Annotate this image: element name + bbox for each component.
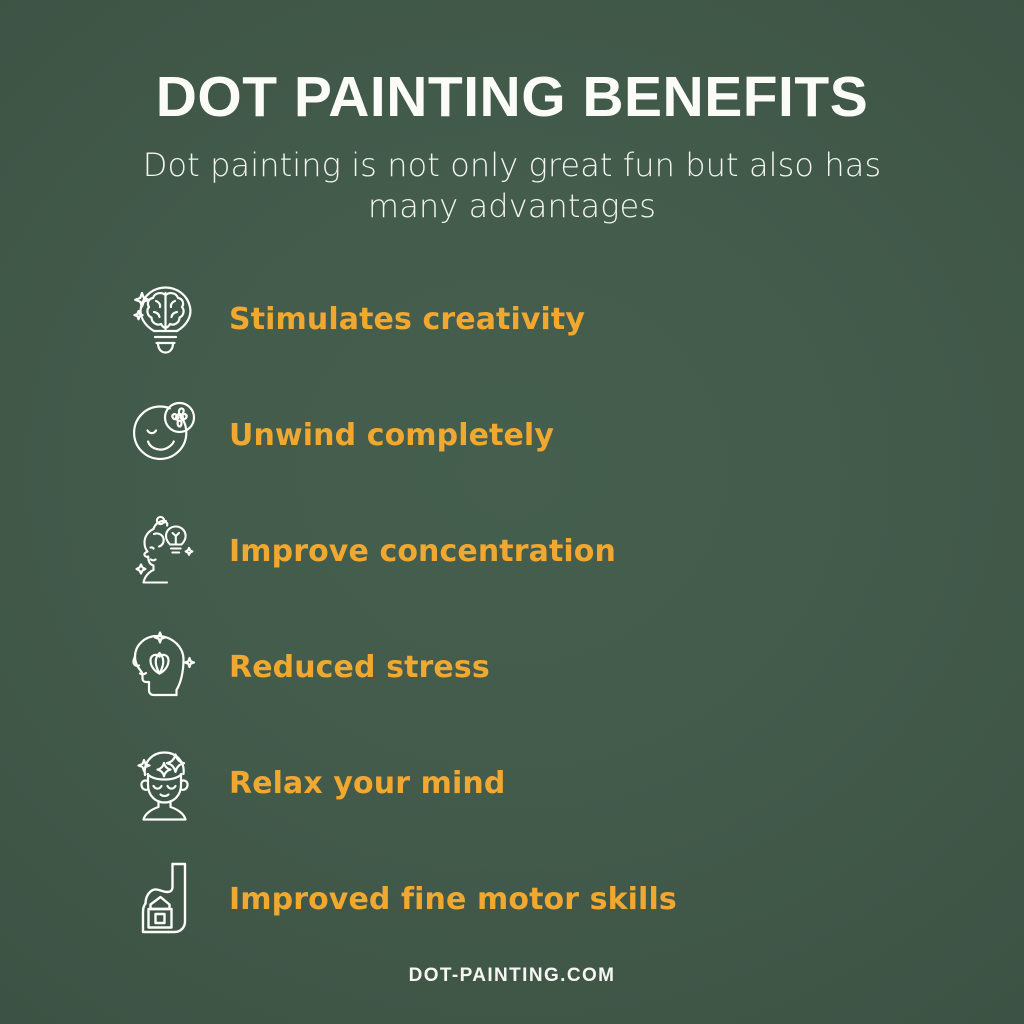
list-item: Improve concentration <box>129 506 929 596</box>
head-profile-lightbulb-icon <box>129 508 201 594</box>
brain-lightbulb-icon <box>129 276 201 362</box>
calm-face-stars-icon <box>129 740 201 826</box>
footer-website[interactable]: DOT-PAINTING.COM <box>0 965 1024 987</box>
head-profile-lotus-icon <box>129 624 201 710</box>
list-item: Reduced stress <box>129 622 929 712</box>
list-item: Unwind completely <box>129 390 929 480</box>
hand-holding-tool-icon <box>129 856 201 942</box>
benefits-list: Stimulates creativity <box>129 274 929 970</box>
list-item: Improved fine motor skills <box>129 854 929 944</box>
page-title: DOT PAINTING BENEFITS <box>0 66 1024 128</box>
list-item-label: Improve concentration <box>229 534 616 569</box>
smiling-face-flower-icon <box>129 392 201 478</box>
list-item-label: Improved fine motor skills <box>229 882 677 917</box>
header: DOT PAINTING BENEFITS Dot painting is no… <box>0 66 1024 227</box>
list-item-label: Stimulates creativity <box>229 302 585 337</box>
page-subtitle: Dot painting is not only great fun but a… <box>132 145 892 227</box>
poster-canvas: DOT PAINTING BENEFITS Dot painting is no… <box>0 0 1024 1024</box>
list-item-label: Unwind completely <box>229 418 554 453</box>
list-item-label: Relax your mind <box>229 766 505 801</box>
list-item-label: Reduced stress <box>229 650 490 685</box>
list-item: Relax your mind <box>129 738 929 828</box>
list-item: Stimulates creativity <box>129 274 929 364</box>
